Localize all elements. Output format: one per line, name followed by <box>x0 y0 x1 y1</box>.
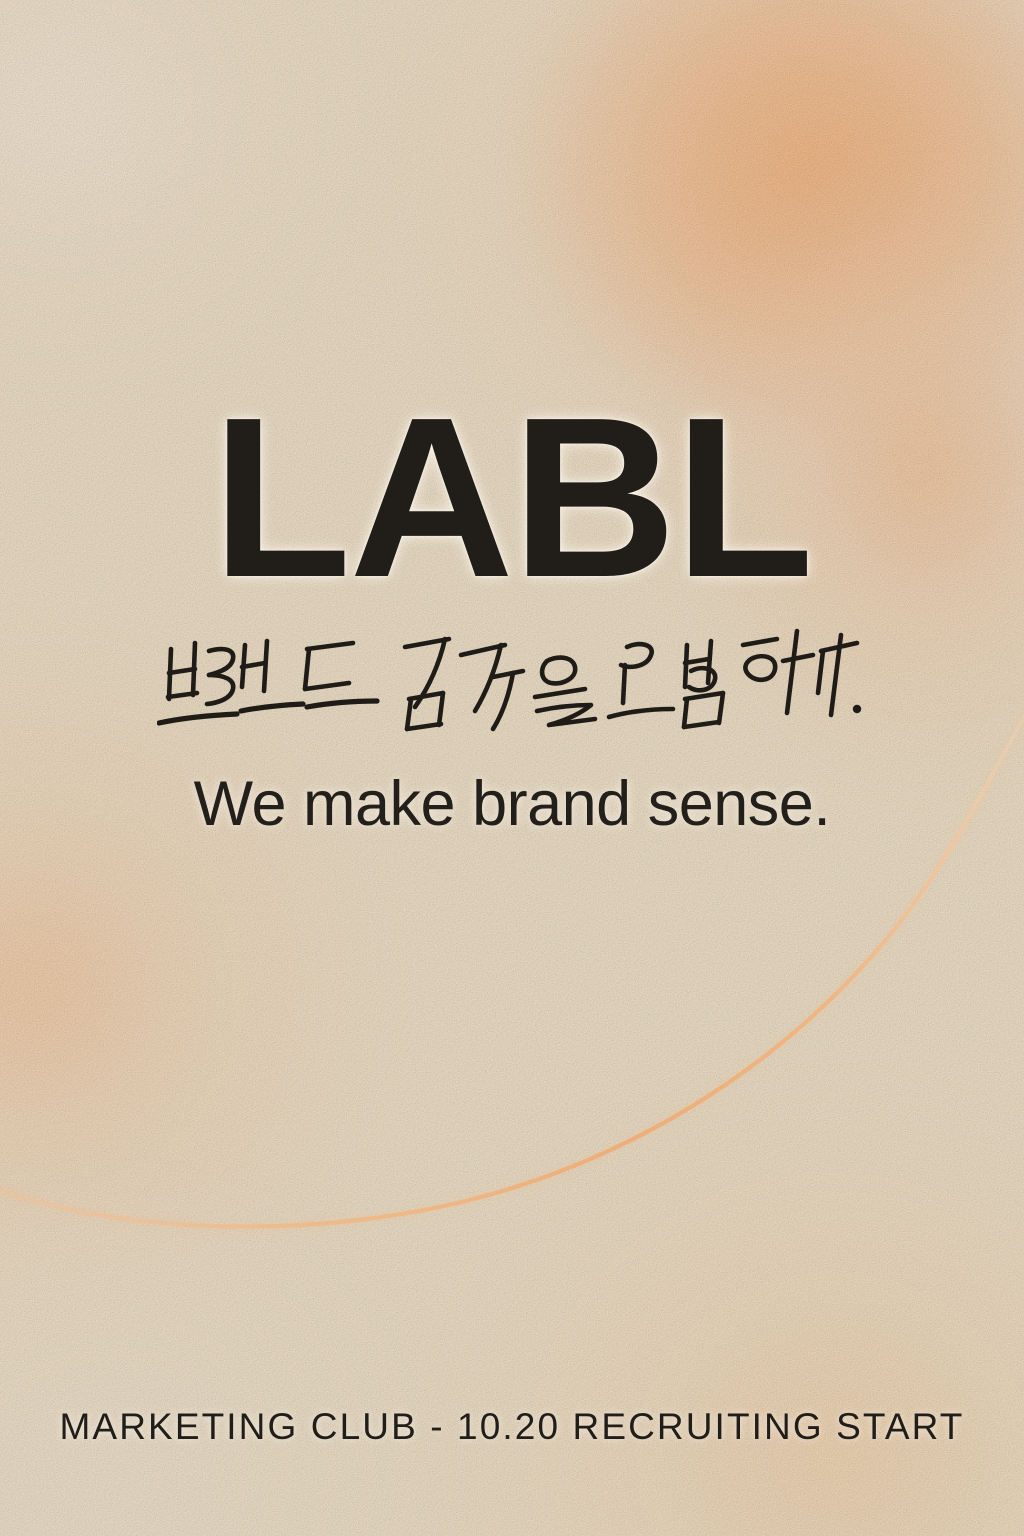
footer-announcement: MARKETING CLUB - 10.20 RECRUITING START <box>0 1406 1024 1448</box>
korean-tagline-svg <box>157 625 867 743</box>
poster-canvas: LABL <box>0 0 1024 1536</box>
korean-tagline-period <box>853 705 861 713</box>
korean-handwritten-tagline <box>0 625 1024 745</box>
english-tagline: We make brand sense. <box>0 770 1024 839</box>
brand-wordmark: LABL <box>0 384 1024 612</box>
poster-content: LABL <box>0 0 1024 1536</box>
